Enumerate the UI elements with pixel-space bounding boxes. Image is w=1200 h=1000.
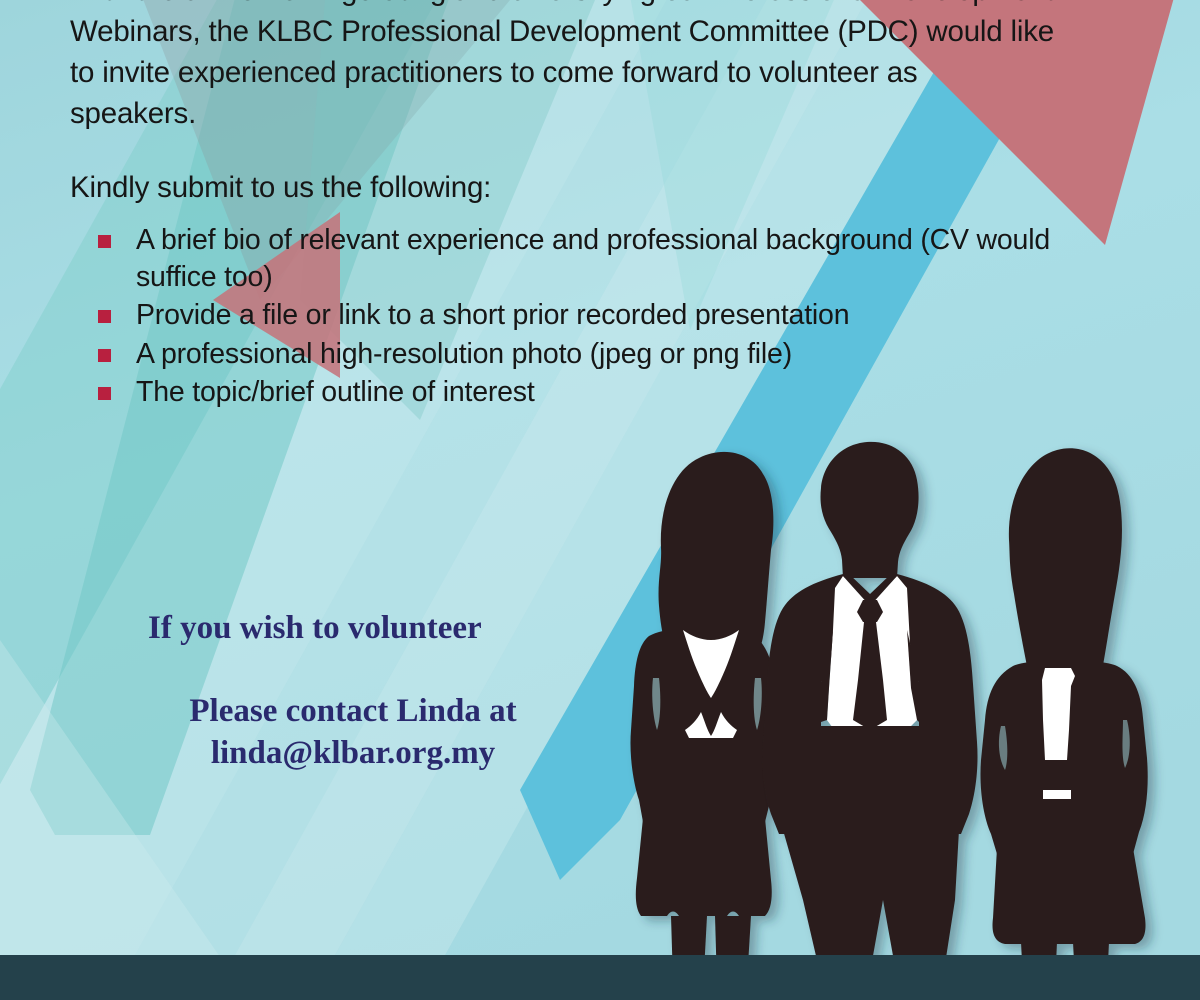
contact-block: If you wish to volunteer Please contact …	[148, 608, 558, 774]
submit-heading: Kindly submit to us the following:	[70, 168, 491, 208]
list-item: Provide a file or link to a short prior …	[96, 297, 1096, 334]
list-item-label: Provide a file or link to a short prior …	[136, 299, 849, 331]
list-item-label: The topic/brief outline of interest	[136, 376, 535, 408]
intro-line-4: speakers.	[70, 93, 1120, 134]
list-item: A brief bio of relevant experience and p…	[96, 222, 1096, 295]
square-bullet-icon	[98, 349, 111, 362]
intro-line-2: Webinars, the KLBC Professional Developm…	[70, 11, 1120, 52]
list-item-label: A brief bio of relevant experience and p…	[136, 224, 1050, 293]
list-item: A professional high-resolution photo (jp…	[96, 336, 1096, 373]
volunteer-heading: If you wish to volunteer	[148, 608, 558, 648]
poster-canvas: With the aim of reinvigorating and diver…	[0, 0, 1200, 1000]
list-item-label: A professional high-resolution photo (jp…	[136, 338, 792, 370]
submit-list: A brief bio of relevant experience and p…	[96, 222, 1096, 413]
contact-email[interactable]: linda@klbar.org.my	[148, 732, 558, 774]
footer-bar	[0, 955, 1200, 1000]
poster-content: With the aim of reinvigorating and diver…	[0, 0, 1200, 1000]
square-bullet-icon	[98, 310, 111, 323]
intro-line-1: With the aim of reinvigorating and diver…	[70, 0, 1120, 11]
square-bullet-icon	[98, 235, 111, 248]
intro-paragraph: With the aim of reinvigorating and diver…	[70, 0, 1120, 134]
list-item: The topic/brief outline of interest	[96, 374, 1096, 411]
intro-line-3: to invite experienced practitioners to c…	[70, 52, 1120, 93]
contact-label: Please contact Linda at	[148, 690, 558, 732]
contact-details: Please contact Linda at linda@klbar.org.…	[148, 690, 558, 774]
square-bullet-icon	[98, 387, 111, 400]
